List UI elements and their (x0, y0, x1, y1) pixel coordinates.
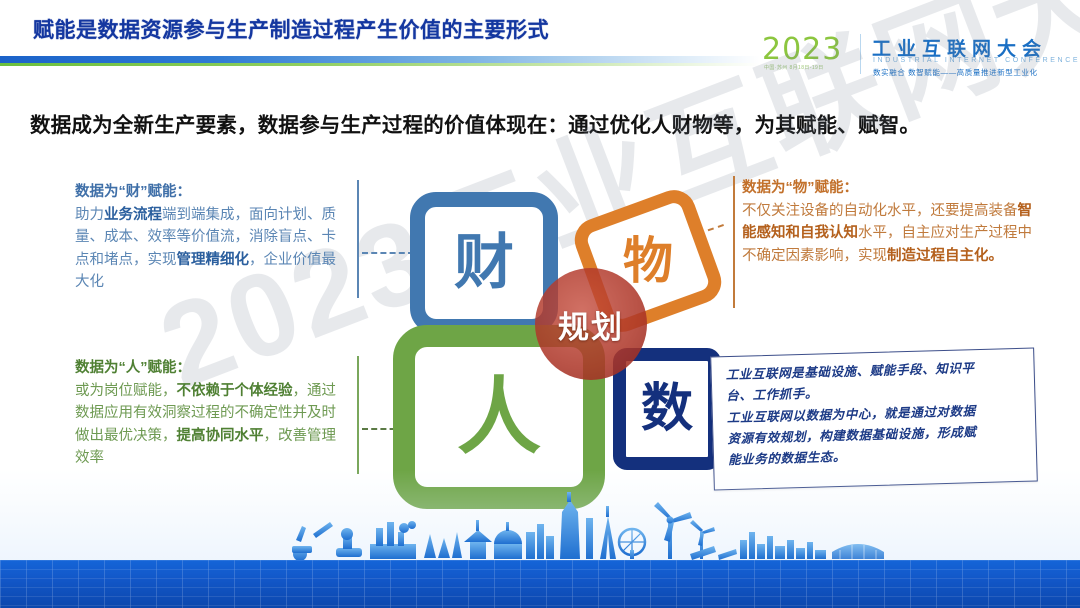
city-skyline-graphic (0, 492, 1080, 562)
panel-cai-heading: 数据为“财”赋能： (75, 182, 345, 204)
diagram-center-planning: 规划 (535, 268, 647, 380)
lead-statement: 数据成为全新生产要素，数据参与生产过程的价值体现在：通过优化人财物等，为其赋能、… (30, 108, 1060, 138)
panel-wu-body: 不仅关注设备的自动化水平，还要提高装备智能感知和自我认知水平，自主应对生产过程中… (742, 200, 1042, 267)
footer-band (0, 560, 1080, 608)
logo-divider (860, 34, 861, 74)
four-element-diagram: 财 物 人 数 规划 (385, 170, 725, 500)
panel-ren-body: 或为岗位赋能，不依赖于个体经验，通过数据应用有效洞察过程的不确定性并及时做出最优… (75, 380, 345, 470)
panel-ren: 数据为“人”赋能： 或为岗位赋能，不依赖于个体经验，通过数据应用有效洞察过程的不… (75, 358, 345, 470)
header-divider-green (0, 63, 760, 66)
logo-name-en: INDUSTRIAL INTERNET CONFERENCE (873, 57, 1080, 64)
panel-ren-heading: 数据为“人”赋能： (75, 358, 345, 380)
panel-cai-body: 助力业务流程端到端集成，面向计划、质量、成本、效率等价值流，消除盲点、卡点和堵点… (75, 204, 345, 294)
panel-cai: 数据为“财”赋能： 助力业务流程端到端集成，面向计划、质量、成本、效率等价值流，… (75, 182, 345, 294)
panel-wu-heading: 数据为“物”赋能： (742, 178, 1042, 200)
panel-wu-rule (733, 176, 735, 308)
header-divider-blue (0, 56, 760, 63)
diagram-node-shu: 数 (613, 348, 721, 470)
panel-ren-rule (357, 356, 359, 474)
panel-cai-rule (357, 180, 359, 298)
footer-grid-pattern (0, 560, 1080, 608)
logo-year: 2023 (762, 32, 842, 67)
panel-wu: 数据为“物”赋能： 不仅关注设备的自动化水平，还要提高装备智能感知和自我认知水平… (742, 178, 1042, 267)
slide-root: 赋能是数据资源参与生产制造过程产生价值的主要形式 2023 中国·苏州 8月18… (0, 0, 1080, 608)
logo-date: 中国·苏州 8月18日-19日 (764, 64, 824, 71)
handwritten-note-text: 工业互联网是基础设施、赋能手段、知识平 台、工作抓手。 工业互联网以数据为中心，… (725, 357, 1020, 471)
page-title: 赋能是数据资源参与生产制造过程产生价值的主要形式 (33, 14, 549, 44)
logo-slogan: 数实融合 数智赋能——高质量推进新型工业化 (873, 67, 1038, 78)
diagram-node-wu-label: 物 (623, 236, 673, 286)
conference-logo: 2023 中国·苏州 8月18日-19日 工业互联网大会 INDUSTRIAL … (762, 33, 1068, 79)
diagram-node-cai-label: 财 (454, 233, 514, 293)
diagram-node-shu-label: 数 (641, 383, 693, 435)
diagram-center-label: 规划 (558, 302, 624, 347)
diagram-node-ren-label: 人 (457, 375, 541, 459)
